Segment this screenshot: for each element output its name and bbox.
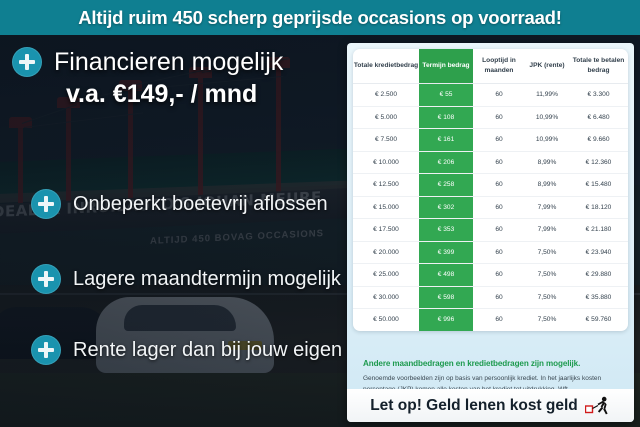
- table-row: € 15.000 € 302 60 7,99% € 18.120: [353, 196, 628, 219]
- list-item: Lagere maandtermijn mogelijk: [31, 264, 341, 294]
- cell-termijn: € 161: [419, 129, 473, 152]
- top-promo-bar: Altijd ruim 450 scherp geprijsde occasio…: [0, 0, 640, 35]
- cell-jkp: 10,99%: [525, 129, 569, 152]
- cell-jkp: 7,50%: [525, 241, 569, 264]
- column-header-totaal: Totale te betalen bedrag: [569, 49, 628, 84]
- cell-termijn: € 353: [419, 219, 473, 242]
- plus-circle-icon: [31, 264, 61, 294]
- cell-jkp: 7,99%: [525, 196, 569, 219]
- table-row: € 17.500 € 353 60 7,99% € 21.180: [353, 219, 628, 242]
- table-header-row: Totale kredietbedrag Termijn bedrag Loop…: [353, 49, 628, 84]
- column-header-looptijd: Looptijd in maanden: [473, 49, 525, 84]
- cell-jkp: 8,99%: [525, 151, 569, 174]
- cell-totaal: € 6.480: [569, 106, 628, 129]
- rates-card: Totale kredietbedrag Termijn bedrag Loop…: [353, 49, 628, 331]
- cell-jkp: 11,99%: [525, 84, 569, 107]
- cell-looptijd: 60: [473, 106, 525, 129]
- cell-termijn: € 498: [419, 264, 473, 287]
- plus-circle-icon: [31, 335, 61, 365]
- cell-totaal: € 23.940: [569, 241, 628, 264]
- cell-jkp: 7,50%: [525, 264, 569, 287]
- credit-warning-text: Let op! Geld lenen kost geld: [370, 397, 578, 415]
- cell-krediet: € 15.000: [353, 196, 419, 219]
- cell-looptijd: 60: [473, 84, 525, 107]
- table-row: € 12.500 € 258 60 8,99% € 15.480: [353, 174, 628, 197]
- cell-looptijd: 60: [473, 309, 525, 331]
- cell-jkp: 7,50%: [525, 309, 569, 331]
- cell-krediet: € 7.500: [353, 129, 419, 152]
- table-row: € 2.500 € 55 60 11,99% € 3.300: [353, 84, 628, 107]
- cell-krediet: € 10.000: [353, 151, 419, 174]
- cell-termijn: € 206: [419, 151, 473, 174]
- rates-table-body: € 2.500 € 55 60 11,99% € 3.300 € 5.000 €…: [353, 84, 628, 331]
- headline-line-2: v.a. €149,- / mnd: [66, 80, 342, 109]
- rates-table: Totale kredietbedrag Termijn bedrag Loop…: [353, 49, 628, 331]
- cell-jkp: 7,99%: [525, 219, 569, 242]
- selling-points-list: Financieren mogelijk v.a. €149,- / mnd O…: [0, 35, 350, 427]
- cell-termijn: € 258: [419, 174, 473, 197]
- column-header-jkp: JPK (rente): [525, 49, 569, 84]
- table-row: € 5.000 € 108 60 10,99% € 6.480: [353, 106, 628, 129]
- cell-totaal: € 3.300: [569, 84, 628, 107]
- cell-totaal: € 12.360: [569, 151, 628, 174]
- list-item-label: Onbeperkt boetevrij aflossen: [73, 193, 328, 216]
- man-pulling-block-icon: [585, 396, 611, 416]
- cell-looptijd: 60: [473, 264, 525, 287]
- cell-looptijd: 60: [473, 196, 525, 219]
- cell-krediet: € 17.500: [353, 219, 419, 242]
- cell-looptijd: 60: [473, 129, 525, 152]
- list-item-label: Rente lager dan bij jouw eigen bank: [73, 339, 391, 362]
- plus-circle-icon: [12, 47, 42, 77]
- cell-krediet: € 2.500: [353, 84, 419, 107]
- cell-totaal: € 15.480: [569, 174, 628, 197]
- cell-jkp: 8,99%: [525, 174, 569, 197]
- column-header-termijn: Termijn bedrag: [419, 49, 473, 84]
- headline-line-1: Financieren mogelijk: [54, 48, 283, 77]
- cell-termijn: € 399: [419, 241, 473, 264]
- rates-panel: Totale kredietbedrag Termijn bedrag Loop…: [347, 43, 634, 422]
- cell-totaal: € 18.120: [569, 196, 628, 219]
- legal-footer-heading: Andere maandbedragen en kredietbedragen …: [363, 359, 621, 368]
- column-header-krediet: Totale kredietbedrag: [353, 49, 419, 84]
- cell-jkp: 10,99%: [525, 106, 569, 129]
- cell-looptijd: 60: [473, 219, 525, 242]
- table-row: € 30.000 € 598 60 7,50% € 35.880: [353, 286, 628, 309]
- cell-looptijd: 60: [473, 286, 525, 309]
- cell-termijn: € 302: [419, 196, 473, 219]
- cell-krediet: € 20.000: [353, 241, 419, 264]
- table-row: € 50.000 € 996 60 7,50% € 59.760: [353, 309, 628, 331]
- cell-jkp: 7,50%: [525, 286, 569, 309]
- cell-krediet: € 30.000: [353, 286, 419, 309]
- list-item-label: Lagere maandtermijn mogelijk: [73, 268, 341, 291]
- plus-circle-icon: [31, 189, 61, 219]
- cell-totaal: € 21.180: [569, 219, 628, 242]
- cell-termijn: € 108: [419, 106, 473, 129]
- cell-looptijd: 60: [473, 241, 525, 264]
- table-row: € 10.000 € 206 60 8,99% € 12.360: [353, 151, 628, 174]
- cell-krediet: € 5.000: [353, 106, 419, 129]
- table-row: € 7.500 € 161 60 10,99% € 9.660: [353, 129, 628, 152]
- headline-block: Financieren mogelijk v.a. €149,- / mnd: [12, 47, 342, 109]
- list-item: Rente lager dan bij jouw eigen bank: [31, 335, 391, 365]
- cell-totaal: € 29.880: [569, 264, 628, 287]
- cell-totaal: € 9.660: [569, 129, 628, 152]
- cell-krediet: € 12.500: [353, 174, 419, 197]
- credit-warning-bar: Let op! Geld lenen kost geld: [347, 389, 634, 422]
- cell-termijn: € 598: [419, 286, 473, 309]
- cell-termijn: € 55: [419, 84, 473, 107]
- top-promo-text: Altijd ruim 450 scherp geprijsde occasio…: [78, 7, 562, 29]
- cell-termijn: € 996: [419, 309, 473, 331]
- finance-promo-banner: Altijd ruim 450 scherp geprijsde occasio…: [0, 0, 640, 427]
- list-item: Onbeperkt boetevrij aflossen: [31, 189, 328, 219]
- cell-looptijd: 60: [473, 151, 525, 174]
- cell-krediet: € 50.000: [353, 309, 419, 331]
- cell-krediet: € 25.000: [353, 264, 419, 287]
- cell-totaal: € 35.880: [569, 286, 628, 309]
- table-row: € 25.000 € 498 60 7,50% € 29.880: [353, 264, 628, 287]
- cell-looptijd: 60: [473, 174, 525, 197]
- table-row: € 20.000 € 399 60 7,50% € 23.940: [353, 241, 628, 264]
- cell-totaal: € 59.760: [569, 309, 628, 331]
